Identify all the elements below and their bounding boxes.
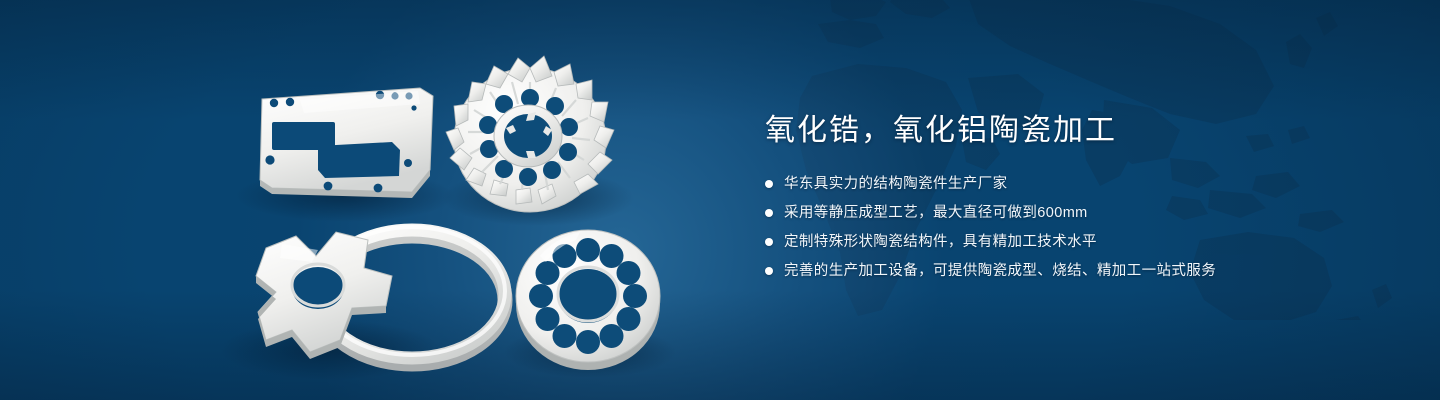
bullet-dot-icon <box>765 238 773 246</box>
feature-bullet-item: 完善的生产加工设备，可提供陶瓷成型、烧结、精加工一站式服务 <box>765 261 1385 281</box>
bullet-dot-icon <box>765 209 773 217</box>
ceramic-machined-plate <box>260 88 433 198</box>
ceramic-products-banner: 氧化锆，氧化铝陶瓷加工 华东具实力的结构陶瓷件生产厂家 采用等静压成型工艺，最大… <box>0 0 1440 400</box>
banner-headline: 氧化锆，氧化铝陶瓷加工 <box>765 112 1385 150</box>
feature-bullet-item: 定制特殊形状陶瓷结构件，具有精加工技术水平 <box>765 232 1385 252</box>
banner-copy-block: 氧化锆，氧化铝陶瓷加工 华东具实力的结构陶瓷件生产厂家 采用等静压成型工艺，最大… <box>765 112 1385 290</box>
feature-bullet-text: 定制特殊形状陶瓷结构件，具有精加工技术水平 <box>784 232 1097 252</box>
feature-bullet-text: 华东具实力的结构陶瓷件生产厂家 <box>784 174 1008 194</box>
feature-bullet-text: 完善的生产加工设备，可提供陶瓷成型、烧结、精加工一站式服务 <box>784 261 1216 281</box>
ceramic-perforated-disc <box>516 230 660 370</box>
feature-bullet-item: 华东具实力的结构陶瓷件生产厂家 <box>765 174 1385 194</box>
feature-bullet-list: 华东具实力的结构陶瓷件生产厂家 采用等静压成型工艺，最大直径可做到600mm 定… <box>765 174 1385 281</box>
bullet-dot-icon <box>765 180 773 188</box>
ceramic-product-images <box>0 0 700 400</box>
feature-bullet-item: 采用等静压成型工艺，最大直径可做到600mm <box>765 203 1385 223</box>
feature-bullet-text: 采用等静压成型工艺，最大直径可做到600mm <box>784 203 1088 223</box>
bullet-dot-icon <box>765 267 773 275</box>
